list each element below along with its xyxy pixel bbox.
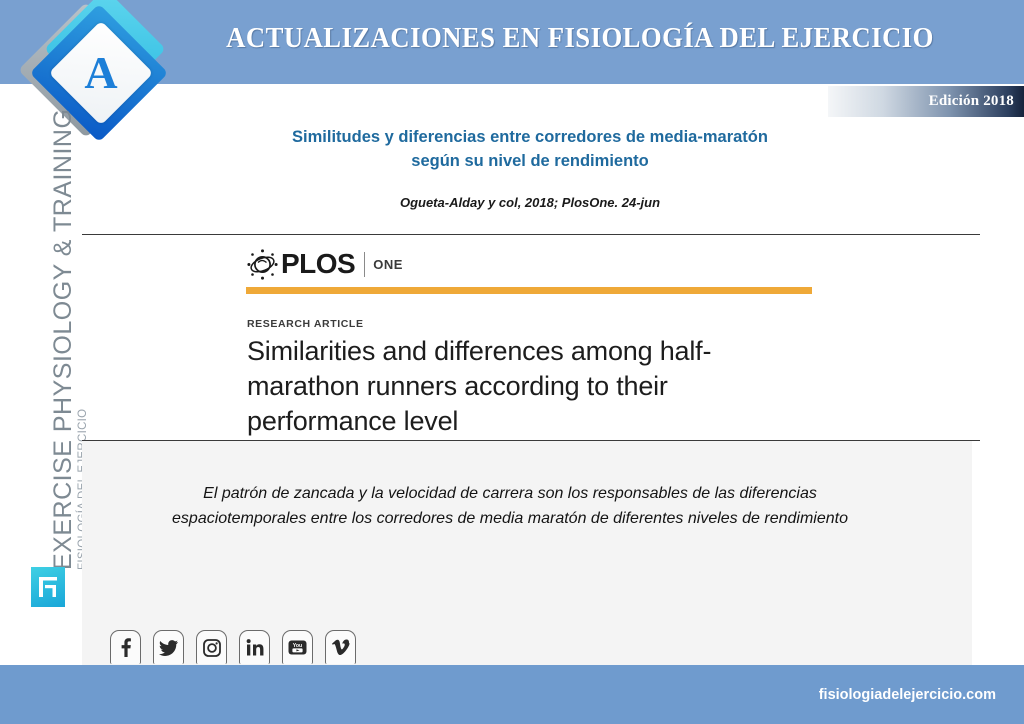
brand-rail: EXERCISE PHYSIOLOGY & TRAINING FISIOLOGÍ… bbox=[26, 175, 82, 615]
svg-text:You: You bbox=[293, 643, 302, 649]
footer-bar: fisiologiadelejercicio.com bbox=[0, 665, 1024, 724]
article-title-es-line1: Similitudes y diferencias entre corredor… bbox=[190, 126, 870, 150]
brand-logo: A bbox=[20, 0, 180, 154]
vimeo-icon[interactable] bbox=[325, 630, 356, 664]
brand-title-en: EXERCISE PHYSIOLOGY & TRAINING bbox=[51, 170, 76, 570]
social-links: You bbox=[110, 630, 356, 664]
plos-wordmark: PLOS bbox=[281, 250, 355, 278]
divider-top bbox=[82, 234, 980, 235]
conclusion-text: El patrón de zancada y la velocidad de c… bbox=[150, 482, 870, 532]
instagram-icon[interactable] bbox=[196, 630, 227, 664]
article-title-es-line2: según su nivel de rendimiento bbox=[190, 150, 870, 174]
logo-letter-a: A bbox=[64, 36, 138, 110]
plos-accent-bar bbox=[246, 287, 812, 294]
footer-website[interactable]: fisiologiadelejercicio.com bbox=[819, 687, 996, 703]
article-kicker: RESEARCH ARTICLE bbox=[247, 318, 364, 330]
slide-root: ACTUALIZACIONES EN FISIOLOGÍA DEL EJERCI… bbox=[0, 0, 1024, 724]
facebook-icon[interactable] bbox=[110, 630, 141, 664]
linkedin-icon[interactable] bbox=[239, 630, 270, 664]
brand-square-icon bbox=[31, 567, 65, 607]
article-title-es: Similitudes y diferencias entre corredor… bbox=[190, 126, 870, 174]
twitter-icon[interactable] bbox=[153, 630, 184, 664]
plos-divider bbox=[364, 252, 365, 277]
plos-one-logo: PLOS ONE bbox=[247, 248, 403, 280]
article-title-en: Similarities and differences among half-… bbox=[247, 334, 767, 439]
edition-badge: Edición 2018 bbox=[828, 86, 1024, 117]
page-title: ACTUALIZACIONES EN FISIOLOGÍA DEL EJERCI… bbox=[184, 22, 975, 55]
article-citation: Ogueta-Alday y col, 2018; PlosOne. 24-ju… bbox=[190, 195, 870, 210]
plos-atom-icon bbox=[247, 249, 278, 280]
plos-edition-label: ONE bbox=[373, 257, 403, 272]
youtube-icon[interactable]: You bbox=[282, 630, 313, 664]
edition-badge-label: Edición 2018 bbox=[929, 93, 1014, 110]
